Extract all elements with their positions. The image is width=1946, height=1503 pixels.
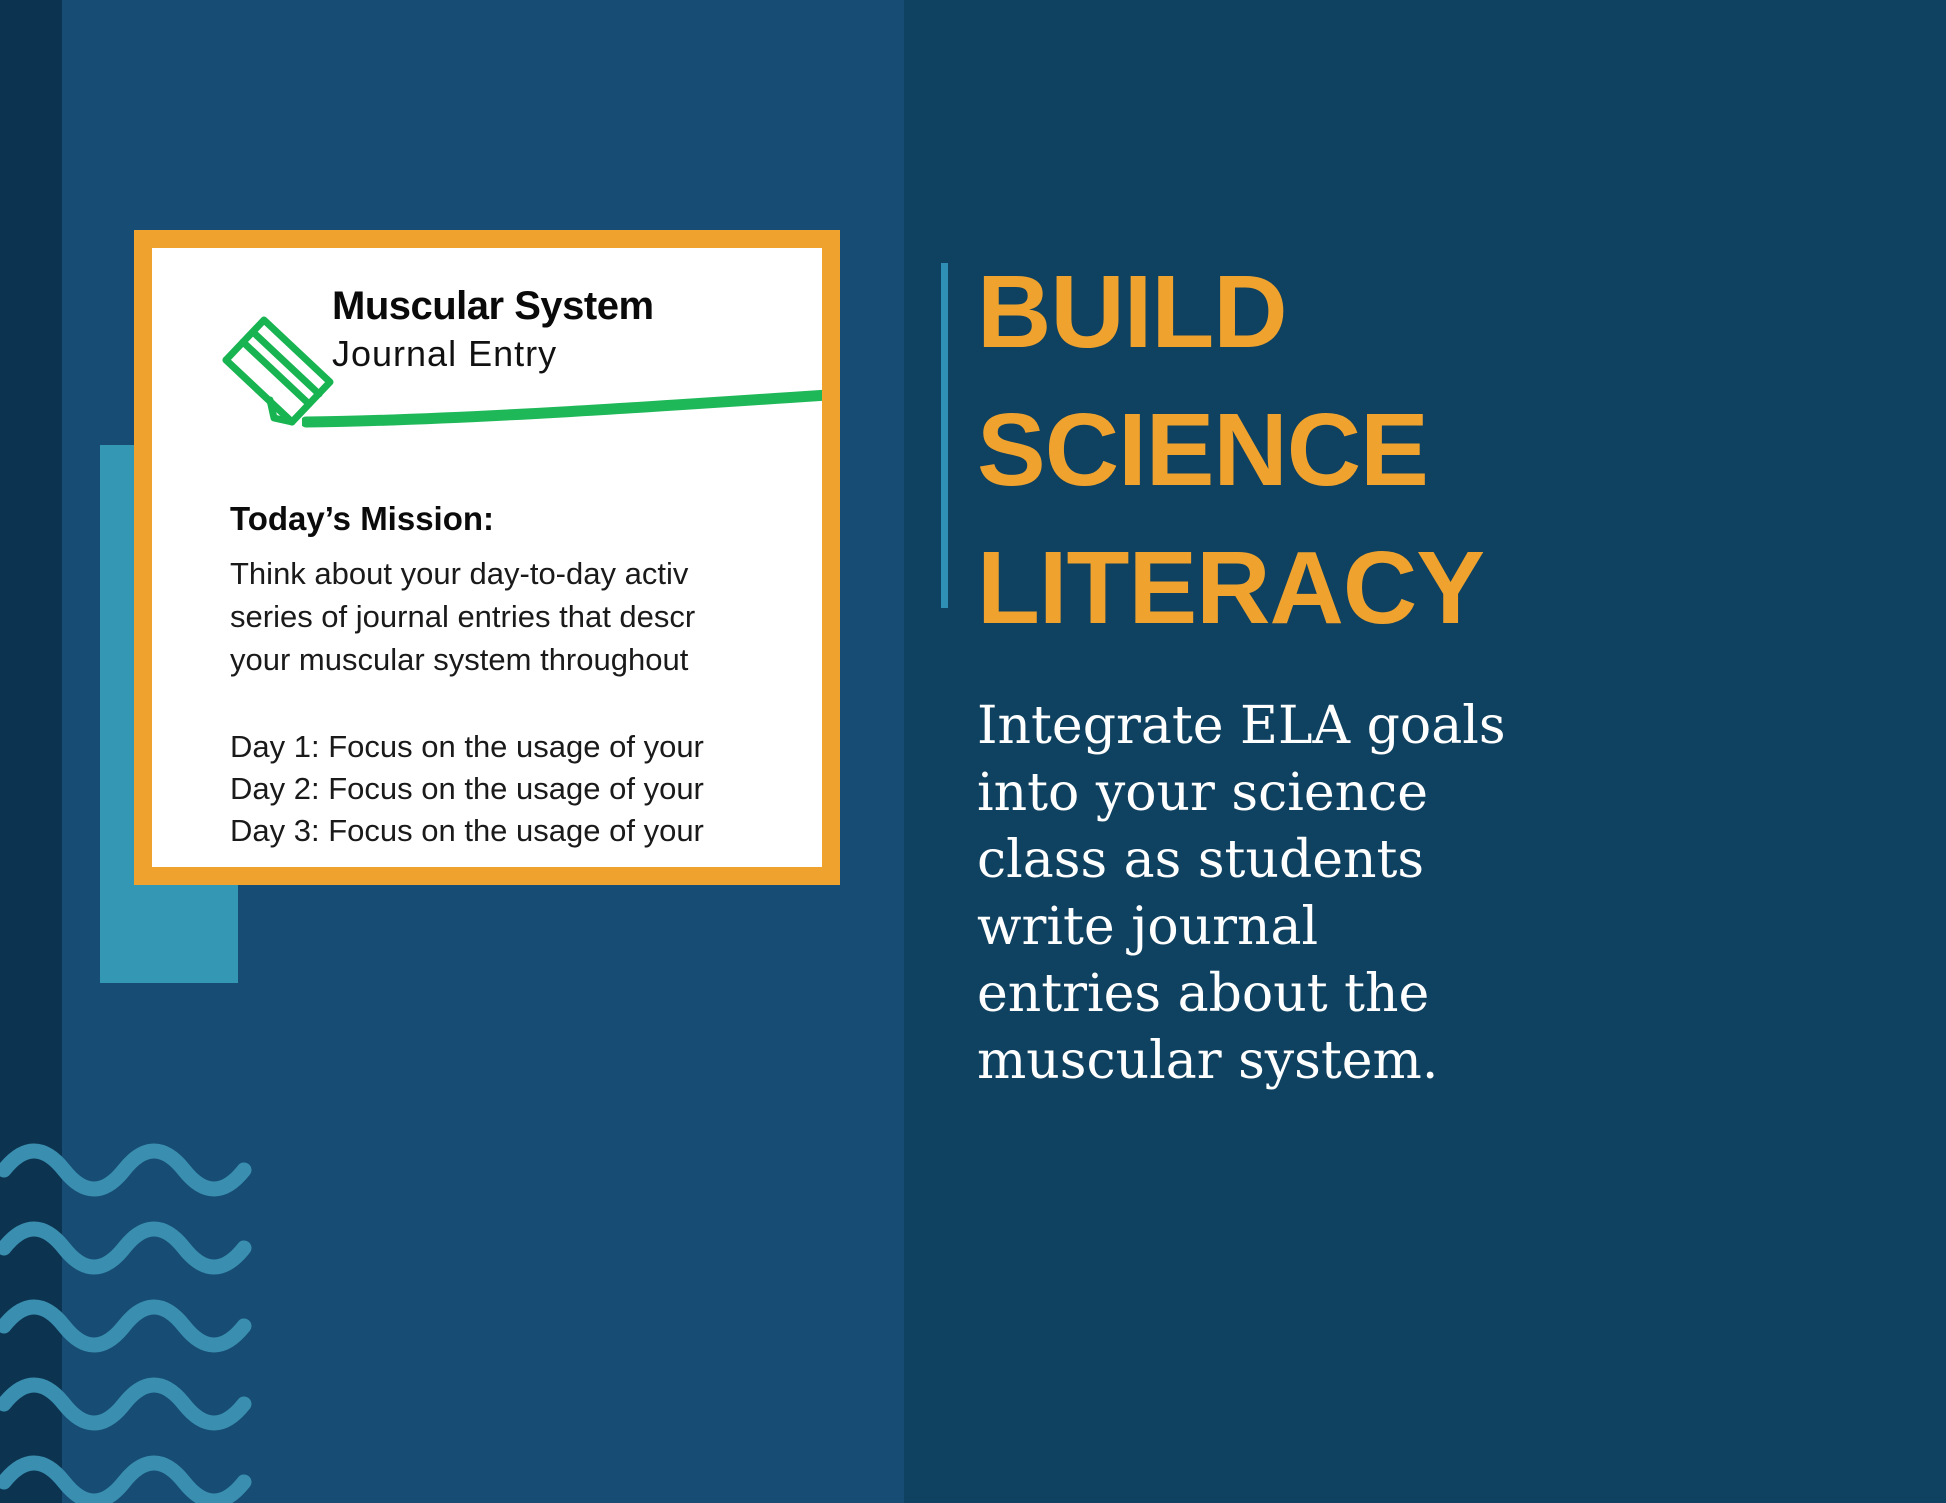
journal-paper-content: Muscular System Journal Entry Today’s Mi…: [152, 248, 822, 867]
headline-line: BUILD: [977, 243, 1877, 381]
swoosh-underline-icon: [302, 378, 822, 438]
day-list-item: Day 2: Focus on the usage of your: [230, 768, 822, 810]
description-line: into your science: [977, 760, 1897, 827]
headline-line: LITERACY: [977, 519, 1877, 657]
page-title: BUILD SCIENCE LITERACY: [977, 243, 1877, 657]
description-line: Integrate ELA goals: [977, 693, 1897, 760]
mission-body: Think about your day-to-day activ series…: [230, 552, 822, 681]
description-line: write journal: [977, 894, 1897, 961]
mission-body-line: series of journal entries that descr: [230, 595, 822, 638]
description-line: entries about the: [977, 961, 1897, 1028]
wave-pattern-icon: [0, 1118, 280, 1503]
headline-line: SCIENCE: [977, 381, 1877, 519]
description-text: Integrate ELA goals into your science cl…: [977, 693, 1897, 1095]
journal-title: Muscular System: [332, 284, 654, 329]
journal-entry-card: Muscular System Journal Entry Today’s Mi…: [134, 230, 840, 885]
description-line: class as students: [977, 827, 1897, 894]
journal-subtitle: Journal Entry: [332, 333, 557, 375]
headline-accent-line: [941, 263, 948, 608]
slide-canvas: Muscular System Journal Entry Today’s Mi…: [0, 0, 1946, 1503]
mission-body-line: Think about your day-to-day activ: [230, 552, 822, 595]
day-list-item: Day 3: Focus on the usage of your: [230, 810, 822, 852]
day-list: Day 1: Focus on the usage of your Day 2:…: [230, 726, 822, 852]
mission-body-line: your muscular system throughout: [230, 638, 822, 681]
mission-heading: Today’s Mission:: [230, 500, 494, 538]
journal-paper: Muscular System Journal Entry Today’s Mi…: [152, 248, 822, 867]
day-list-item: Day 1: Focus on the usage of your: [230, 726, 822, 768]
description-line: muscular system.: [977, 1028, 1897, 1095]
